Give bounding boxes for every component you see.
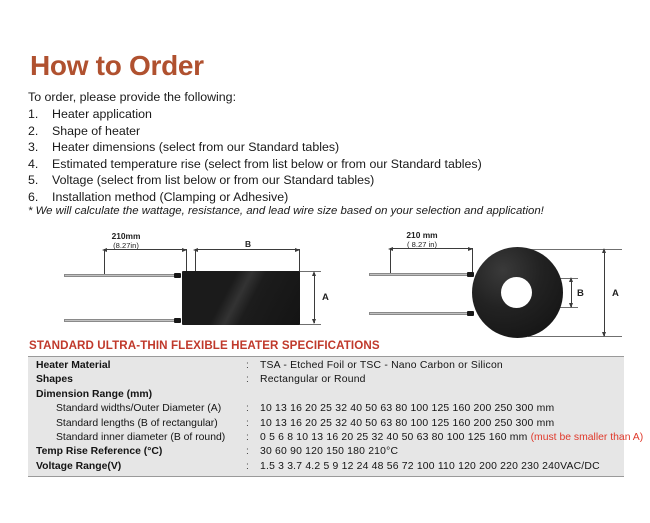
spec-row-label: Voltage Range(V) xyxy=(36,460,246,474)
spec-table: Heater Material : TSA - Etched Foil or T… xyxy=(28,356,624,477)
list-item-number: 3. xyxy=(28,139,52,156)
list-item: 6. Installation method (Clamping or Adhe… xyxy=(28,189,628,206)
round-heater-inner-hole xyxy=(501,277,532,308)
rect-lead-tip-bottom xyxy=(174,318,181,323)
list-item: 3. Heater dimensions (select from our St… xyxy=(28,139,628,156)
spec-row-value: 1.5 3 3.7 4.2 5 9 12 24 48 56 72 100 110… xyxy=(260,460,624,474)
rect-lead-length-mm: 210mm xyxy=(112,231,141,241)
spec-row-label: Heater Material xyxy=(36,359,246,373)
rect-width-label: B xyxy=(194,240,302,249)
spec-row-value: 10 13 16 20 25 32 40 50 63 80 100 125 16… xyxy=(260,402,624,416)
rect-height-ext-top xyxy=(299,271,321,272)
list-item-number: 2. xyxy=(28,123,52,140)
list-item: 4. Estimated temperature rise (select fr… xyxy=(28,156,628,173)
round-lead-tip-bottom xyxy=(467,311,474,316)
spec-row-colon: : xyxy=(246,373,260,387)
spec-row-colon: : xyxy=(246,359,260,373)
round-lead-tip-top xyxy=(467,272,474,277)
round-lead-wire-top xyxy=(369,273,469,276)
rect-lead-ext-left xyxy=(104,249,105,277)
rect-lead-length-label: 210mm (8.27in) xyxy=(78,232,174,250)
spec-row-label: Dimension Range (mm) xyxy=(36,388,246,402)
rect-height-dim-line xyxy=(314,273,315,323)
list-item-label: Shape of heater xyxy=(52,123,140,140)
list-item-number: 5. xyxy=(28,172,52,189)
table-row: Standard lengths (B of rectangular) : 10… xyxy=(28,417,624,431)
spec-row-colon: : xyxy=(246,417,260,431)
spec-row-value: 10 13 16 20 25 32 40 50 63 80 100 125 16… xyxy=(260,417,624,431)
list-item-label: Voltage (select from list below or from … xyxy=(52,172,374,189)
table-row: Standard inner diameter (B of round) : 0… xyxy=(28,431,624,445)
spec-row-label: Shapes xyxy=(36,373,246,387)
order-note: * We will calculate the wattage, resista… xyxy=(28,205,544,217)
spec-row-value: 0 5 6 8 10 13 16 20 25 32 40 50 63 80 10… xyxy=(260,431,643,445)
list-item: 1. Heater application xyxy=(28,106,628,123)
list-item-number: 1. xyxy=(28,106,52,123)
table-row: Dimension Range (mm) xyxy=(28,388,624,402)
list-item-label: Installation method (Clamping or Adhesiv… xyxy=(52,189,288,206)
page-title: How to Order xyxy=(30,50,204,82)
rectangular-heater-body xyxy=(182,271,300,325)
spec-row-warning: (must be smaller than A) xyxy=(531,432,644,443)
rectangular-heater-diagram: 210mm (8.27in) B A xyxy=(62,228,342,340)
spec-section-heading: STANDARD ULTRA-THIN FLEXIBLE HEATER SPEC… xyxy=(29,339,380,352)
rect-lead-wire-bottom xyxy=(64,319,176,322)
spec-row-colon: : xyxy=(246,445,260,459)
round-lead-length-mm: 210 mm xyxy=(406,230,437,240)
spec-row-colon: : xyxy=(246,402,260,416)
table-row: Heater Material : TSA - Etched Foil or T… xyxy=(28,359,624,373)
list-item: 5. Voltage (select from list below or fr… xyxy=(28,172,628,189)
rect-width-ext-left xyxy=(195,249,196,271)
round-lead-ext-right xyxy=(472,248,473,275)
round-inner-dim-arrow-up xyxy=(569,277,573,282)
table-row: Voltage Range(V) : 1.5 3 3.7 4.2 5 9 12 … xyxy=(28,460,624,474)
rect-width-letter: B xyxy=(245,239,251,249)
table-row: Temp Rise Reference (°C) : 30 60 90 120 … xyxy=(28,445,624,459)
rect-height-dim-arrow-down xyxy=(312,319,316,324)
rect-height-letter: A xyxy=(322,292,329,303)
list-item: 2. Shape of heater xyxy=(28,123,628,140)
round-outer-dim-arrow-up xyxy=(602,248,606,253)
round-lead-wire-bottom xyxy=(369,312,469,315)
rect-lead-tip-top xyxy=(174,273,181,278)
list-item-label: Heater dimensions (select from our Stand… xyxy=(52,139,339,156)
list-item-number: 6. xyxy=(28,189,52,206)
round-inner-dim-arrow-down xyxy=(569,303,573,308)
round-inner-letter: B xyxy=(577,288,584,299)
round-outer-letter: A xyxy=(612,288,619,299)
spec-row-value: TSA - Etched Foil or TSC - Nano Carbon o… xyxy=(260,359,624,373)
round-outer-ext-bottom xyxy=(528,336,622,337)
spec-row-label: Standard inner diameter (B of round) xyxy=(36,431,246,445)
spec-row-colon: : xyxy=(246,431,260,445)
rect-height-ext-bottom xyxy=(299,324,321,325)
round-outer-ext-top xyxy=(528,249,622,250)
spec-row-value: Rectangular or Round xyxy=(260,373,624,387)
round-outer-dim-line xyxy=(604,250,605,336)
intro-text: To order, please provide the following: xyxy=(28,90,236,104)
diagram-area: 210mm (8.27in) B A xyxy=(0,228,650,340)
round-lead-ext-left xyxy=(390,248,391,275)
spec-row-colon: : xyxy=(246,460,260,474)
order-steps-list: 1. Heater application 2. Shape of heater… xyxy=(28,106,628,206)
spec-row-label: Temp Rise Reference (°C) xyxy=(36,445,246,459)
rect-height-dim-arrow-up xyxy=(312,271,316,276)
round-outer-dim-arrow-down xyxy=(602,332,606,337)
spec-row-label: Standard widths/Outer Diameter (A) xyxy=(36,402,246,416)
table-row: Shapes : Rectangular or Round xyxy=(28,373,624,387)
rect-width-dim-line xyxy=(195,249,299,250)
list-item-number: 4. xyxy=(28,156,52,173)
rect-lead-dim-line xyxy=(104,249,186,250)
round-heater-diagram: 210 mm ( 8.27 in) A B xyxy=(368,228,648,340)
list-item-label: Estimated temperature rise (select from … xyxy=(52,156,482,173)
round-lead-dim-line xyxy=(390,248,472,249)
spec-row-label: Standard lengths (B of rectangular) xyxy=(36,417,246,431)
spec-row-value: 30 60 90 120 150 180 210°C xyxy=(260,445,624,459)
list-item-label: Heater application xyxy=(52,106,152,123)
rect-width-ext-right xyxy=(299,249,300,271)
table-row: Standard widths/Outer Diameter (A) : 10 … xyxy=(28,402,624,416)
rect-lead-wire-top xyxy=(64,274,176,277)
